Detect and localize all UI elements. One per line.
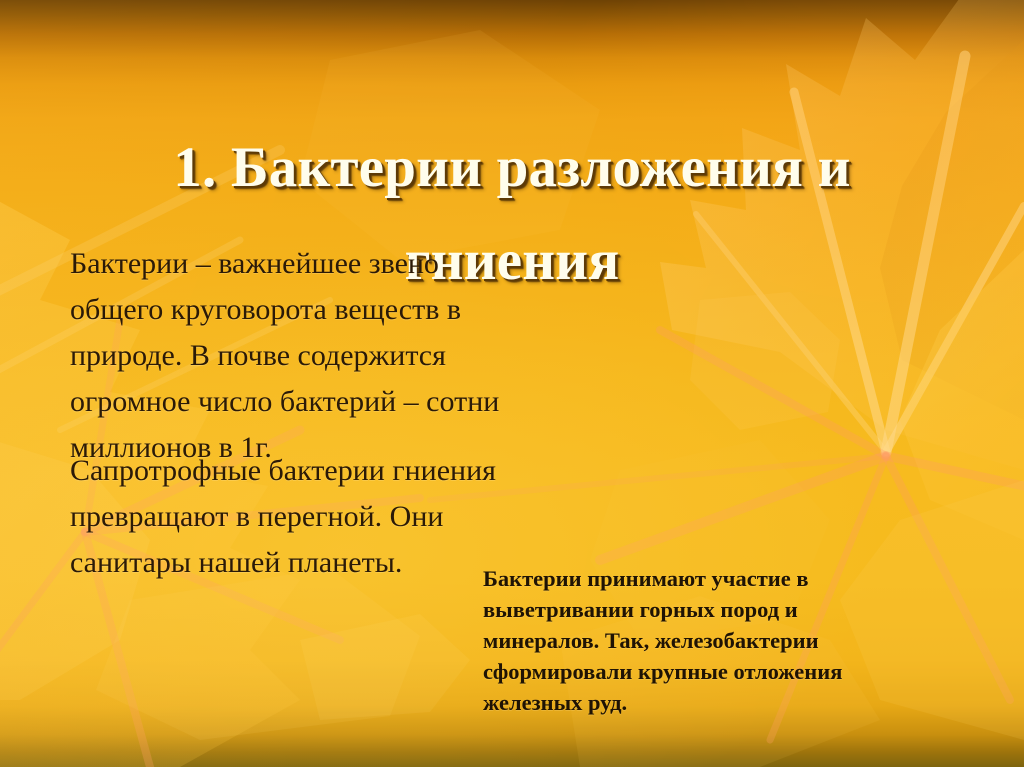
presentation-slide: 1. Бактерии разложения и гниения Бактери… (0, 0, 1024, 767)
note-paragraph: Бактерии принимают участие в выветривани… (483, 563, 983, 718)
body-paragraph-1: Бактерии – важнейшее звено общего кругов… (70, 241, 590, 471)
slide-content: 1. Бактерии разложения и гниения Бактери… (0, 0, 1024, 767)
